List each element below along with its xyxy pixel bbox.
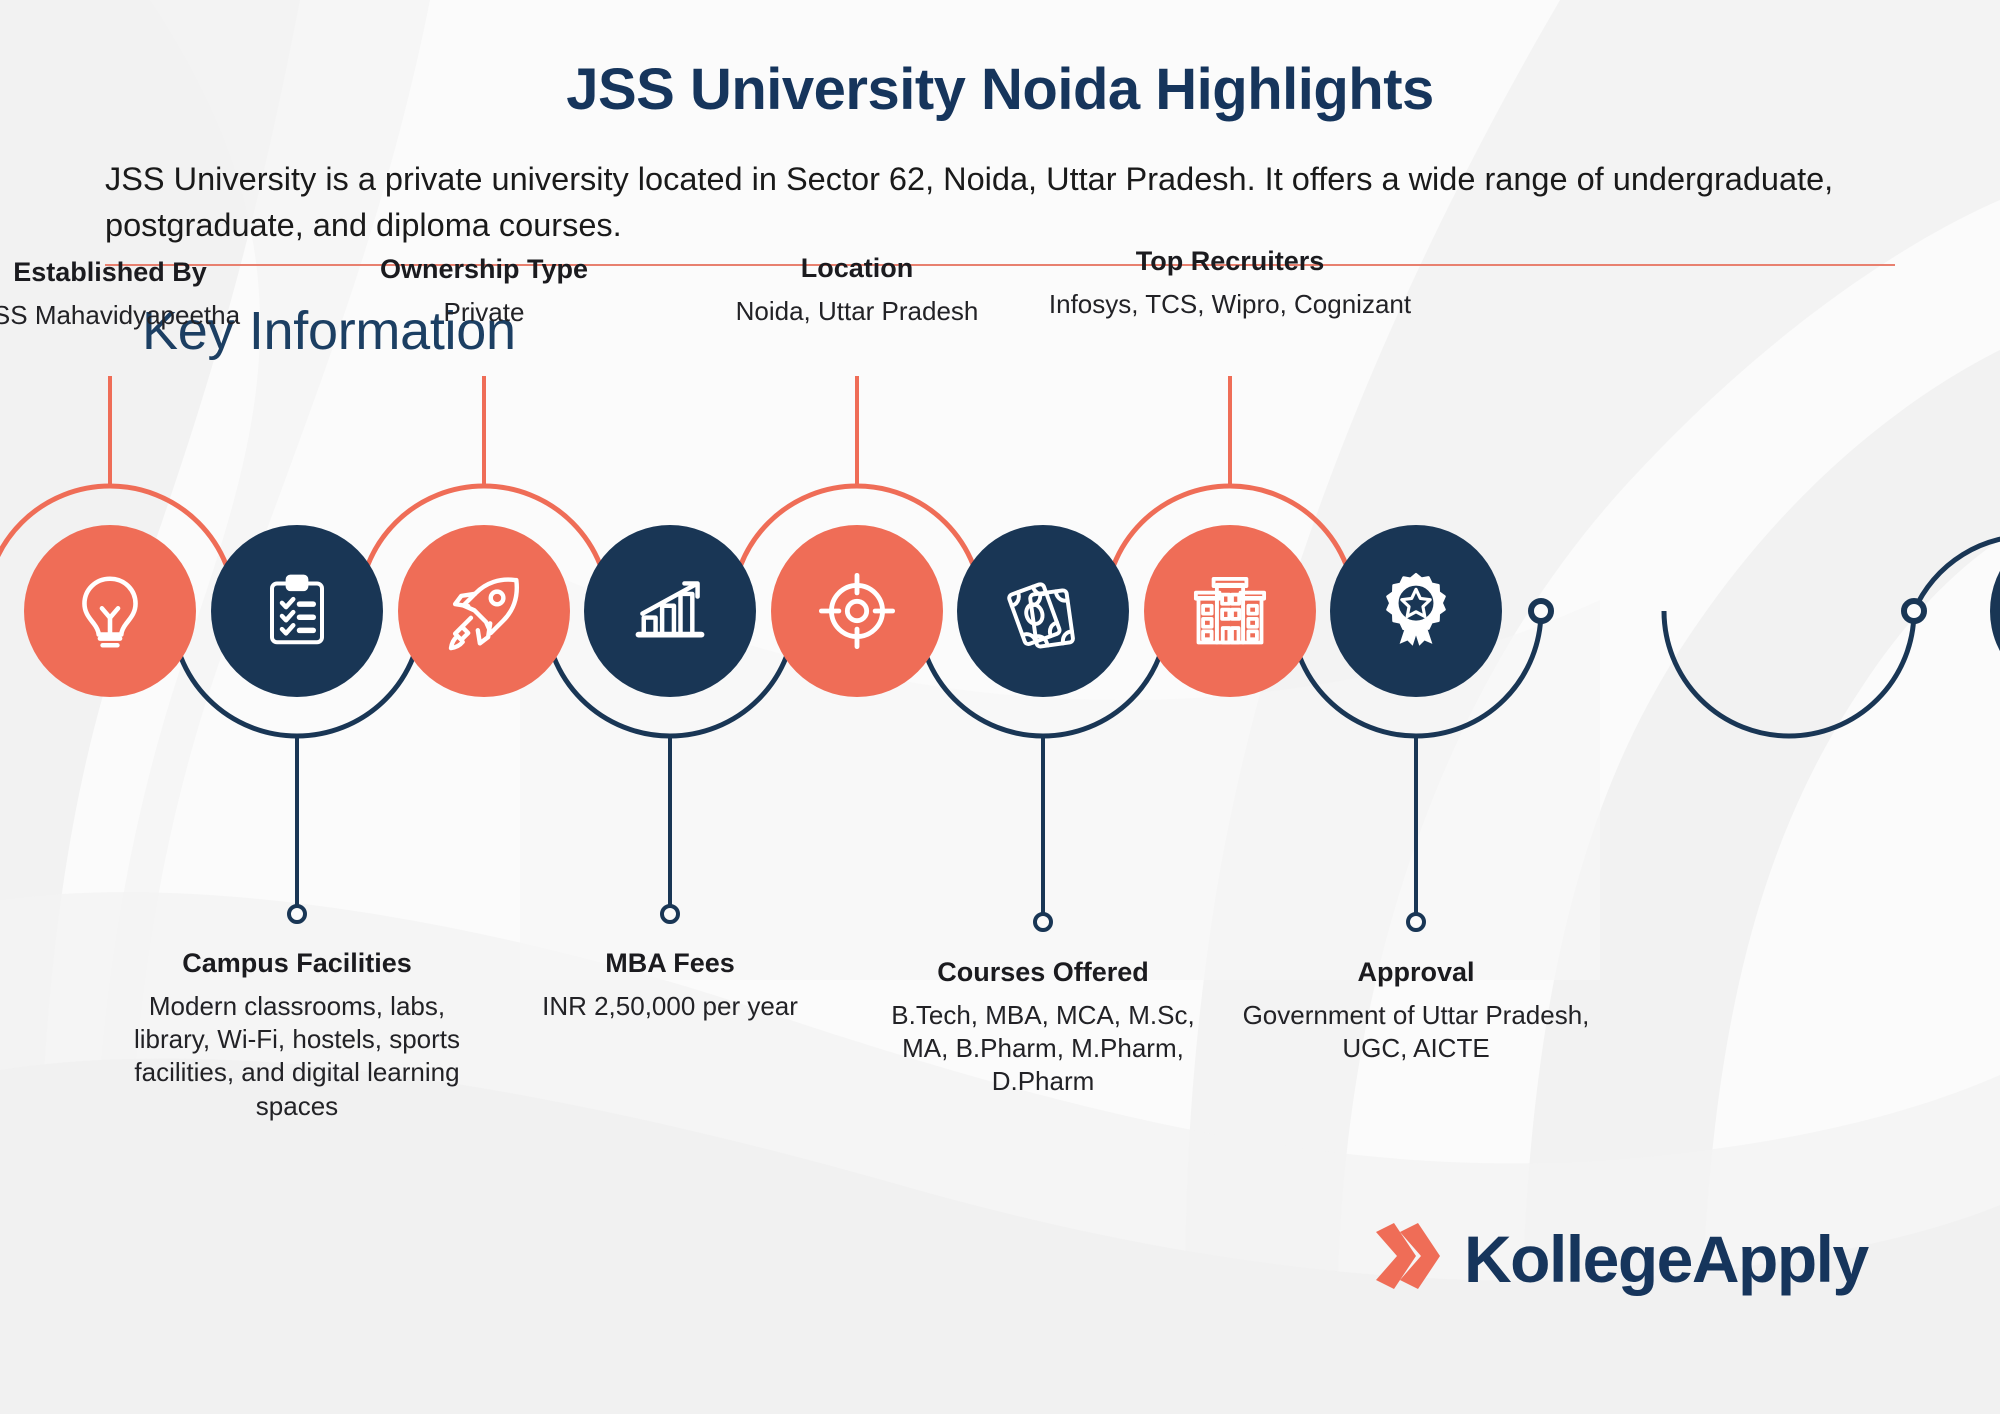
caption-value: Private bbox=[304, 296, 664, 329]
node-circle-courses-offered[interactable] bbox=[957, 525, 1129, 697]
stem-dot-navy-3 bbox=[1035, 914, 1051, 930]
junction-dot-8 bbox=[1531, 601, 1551, 621]
caption-title: Location bbox=[677, 252, 1037, 286]
money-notes-icon bbox=[1001, 569, 1085, 653]
caption-value: B.Tech, MBA, MCA, M.Sc, MA, B.Pharm, M.P… bbox=[881, 999, 1205, 1099]
caption-value: Government of Uttar Pradesh, UGC, AICTE bbox=[1234, 999, 1598, 1066]
stem-dot-navy-2 bbox=[662, 906, 678, 922]
caption-location: Location Noida, Uttar Pradesh bbox=[677, 252, 1037, 328]
caption-approval: Approval Government of Uttar Pradesh, UG… bbox=[1234, 956, 1598, 1065]
arc-navy-5 bbox=[1664, 611, 1914, 736]
infographic-page: JSS University Noida Highlights JSS Univ… bbox=[0, 0, 2000, 1414]
caption-title: MBA Fees bbox=[490, 947, 850, 981]
caption-value: JSS Mahavidyapeetha bbox=[0, 299, 290, 332]
caption-established-by: Established By JSS Mahavidyapeetha bbox=[0, 256, 290, 332]
caption-title: Established By bbox=[0, 256, 290, 290]
caption-courses-offered: Courses Offered B.Tech, MBA, MCA, M.Sc, … bbox=[881, 956, 1205, 1099]
arc-navy-6-partial bbox=[1914, 536, 2000, 611]
stem-dot-navy-1 bbox=[289, 906, 305, 922]
node-circle-top-recruiters[interactable] bbox=[1144, 525, 1316, 697]
caption-title: Approval bbox=[1234, 956, 1598, 990]
award-badge-icon bbox=[1374, 569, 1458, 653]
junction-dot-9 bbox=[1904, 601, 1924, 621]
clipboard-checklist-icon bbox=[257, 571, 337, 651]
rocket-icon bbox=[440, 567, 528, 655]
node-circle-ownership-type[interactable] bbox=[398, 525, 570, 697]
caption-value: INR 2,50,000 per year bbox=[490, 990, 850, 1023]
node-circle-established-by[interactable] bbox=[24, 525, 196, 697]
node-circle-mba-fees[interactable] bbox=[584, 525, 756, 697]
caption-top-recruiters: Top Recruiters Infosys, TCS, Wipro, Cogn… bbox=[1030, 245, 1430, 321]
caption-title: Courses Offered bbox=[881, 956, 1205, 990]
growth-chart-icon bbox=[628, 569, 712, 653]
caption-campus-facilities: Campus Facilities Modern classrooms, lab… bbox=[131, 947, 463, 1123]
page-title: JSS University Noida Highlights bbox=[80, 40, 1920, 122]
node-circle-campus-facilities[interactable] bbox=[211, 525, 383, 697]
caption-value: Noida, Uttar Pradesh bbox=[677, 295, 1037, 328]
caption-value: Modern classrooms, labs, library, Wi-Fi,… bbox=[131, 990, 463, 1123]
caption-title: Campus Facilities bbox=[131, 947, 463, 981]
caption-ownership-type: Ownership Type Private bbox=[304, 253, 664, 329]
stem-dot-navy-4 bbox=[1408, 914, 1424, 930]
double-chevron-mark-icon bbox=[1370, 1218, 1442, 1299]
caption-mba-fees: MBA Fees INR 2,50,000 per year bbox=[490, 947, 850, 1023]
target-icon bbox=[814, 568, 900, 654]
node-circle-approval[interactable] bbox=[1330, 525, 1502, 697]
timeline-region: Established By JSS Mahavidyapeetha Owner… bbox=[0, 376, 2000, 1116]
lightbulb-icon bbox=[67, 568, 153, 654]
caption-title: Top Recruiters bbox=[1030, 245, 1430, 279]
caption-title: Ownership Type bbox=[304, 253, 664, 287]
building-icon bbox=[1188, 569, 1272, 653]
caption-value: Infosys, TCS, Wipro, Cognizant bbox=[1030, 288, 1430, 321]
node-circle-location[interactable] bbox=[771, 525, 943, 697]
brand-logo[interactable]: KollegeApply bbox=[1370, 1218, 1868, 1299]
intro-paragraph: JSS University is a private university l… bbox=[105, 156, 1895, 248]
brand-name: KollegeApply bbox=[1464, 1226, 1868, 1292]
